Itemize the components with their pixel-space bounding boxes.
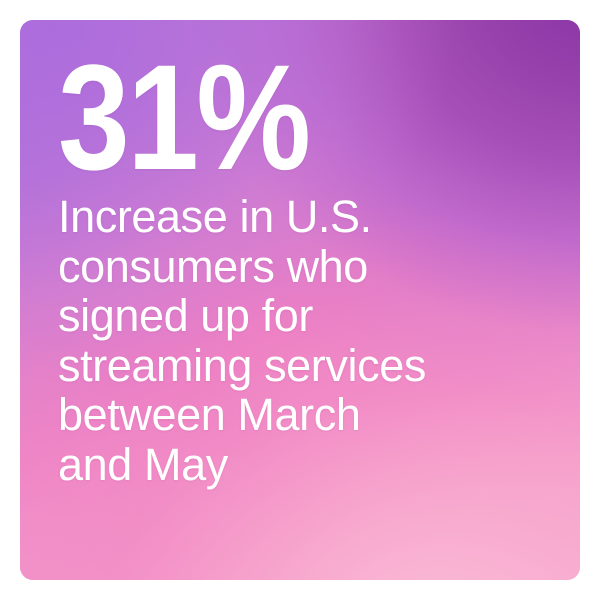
description-text: Increase in U.S. consumers who signed up…: [58, 192, 580, 489]
card-content: 31% Increase in U.S. consumers who signe…: [20, 20, 580, 580]
description-line-2: consumers who: [58, 242, 580, 292]
description-line-3: signed up for: [58, 291, 580, 341]
headline-statistic: 31%: [58, 42, 507, 192]
description-line-4: streaming services: [58, 341, 580, 391]
description-line-5: between March: [58, 390, 580, 440]
description-line-6: and May: [58, 440, 580, 490]
statistic-card: 31% Increase in U.S. consumers who signe…: [20, 20, 580, 580]
